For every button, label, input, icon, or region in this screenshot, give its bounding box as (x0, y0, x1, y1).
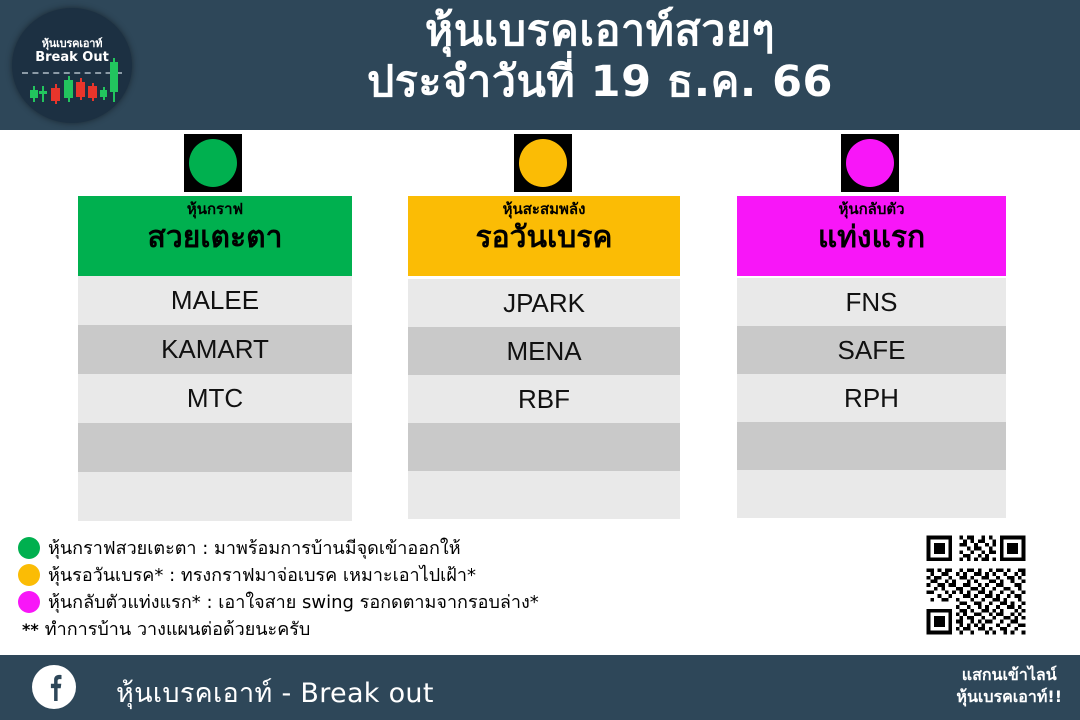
column-header-3: หุ้นกลับตัว แท่งแรก (737, 196, 1006, 276)
footnote-stars: ** (22, 622, 39, 643)
legend-label: หุ้นรอวันเบรค* : ทรงกราฟมาจ่อเบรค เหมาะเ… (48, 560, 476, 589)
stock-column-3: หุ้นกลับตัว แท่งแรก FNS SAFE RPH (737, 196, 1006, 518)
legend-label: หุ้นกลับตัวแท่งแรก* : เอาใจสาย swing รอก… (48, 587, 539, 616)
scan-line-1: แสกนเข้าไลน์ (956, 664, 1062, 686)
column-subtitle: หุ้นสะสมพลัง (408, 200, 680, 219)
column-subtitle: หุ้นกลับตัว (737, 200, 1006, 219)
stock-row[interactable]: MALEE (78, 276, 352, 325)
stock-row[interactable] (78, 423, 352, 472)
infographic-page: หุ้นเบรคเอาท์ Break Out (0, 0, 1080, 720)
stock-row[interactable] (408, 471, 680, 519)
column-header-2: หุ้นสะสมพลัง รอวันเบรค (408, 196, 680, 276)
stock-row[interactable]: RBF (408, 375, 680, 423)
title-line-2: ประจำวันที่ 19 ธ.ค. 66 (150, 57, 1050, 108)
column-title: รอวันเบรค (408, 220, 680, 256)
stock-row[interactable] (408, 423, 680, 471)
stock-column-2: หุ้นสะสมพลัง รอวันเบรค JPARK MENA RBF (408, 196, 680, 519)
stock-row[interactable]: JPARK (408, 279, 680, 327)
legend-item: หุ้นรอวันเบรค* : ทรงกราฟมาจ่อเบรค เหมาะเ… (18, 561, 738, 588)
stock-row[interactable]: FNS (737, 278, 1006, 326)
stock-row[interactable] (737, 470, 1006, 518)
stock-row[interactable]: RPH (737, 374, 1006, 422)
title-line-1: หุ้นเบรคเอาท์สวยๆ (150, 6, 1050, 57)
scan-line-2: หุ้นเบรคเอาท์!! (956, 686, 1062, 708)
status-dot-green (184, 134, 242, 192)
green-circle-icon (18, 537, 40, 559)
status-dot-amber (514, 134, 572, 192)
legend-item: หุ้นกลับตัวแท่งแรก* : เอาใจสาย swing รอก… (18, 588, 738, 615)
column-header-1: หุ้นกราฟ สวยเตะตา (78, 196, 352, 276)
legend-item: หุ้นกราฟสวยเตะตา : มาพร้อมการบ้านมีจุดเข… (18, 534, 738, 561)
legend-footnote: ** ทำการบ้าน วางแผนต่อด้วยนะครับ (18, 615, 738, 643)
amber-circle-icon (519, 139, 567, 187)
stock-row[interactable]: SAFE (737, 326, 1006, 374)
stock-list-1: MALEE KAMART MTC (78, 276, 352, 521)
footer-bar: หุ้นเบรคเอาท์ - Break out แสกนเข้าไลน์ ห… (0, 655, 1080, 720)
stock-column-1: หุ้นกราฟ สวยเตะตา MALEE KAMART MTC (78, 196, 352, 521)
stock-row[interactable] (737, 422, 1006, 470)
facebook-page-name[interactable]: หุ้นเบรคเอาท์ - Break out (116, 671, 434, 714)
candlestick-chart-icon (26, 58, 120, 110)
stock-row[interactable]: MTC (78, 374, 352, 423)
magenta-circle-icon (18, 591, 40, 613)
column-subtitle: หุ้นกราฟ (78, 200, 352, 219)
header-bar: หุ้นเบรคเอาท์ Break Out (0, 0, 1080, 130)
brand-logo: หุ้นเบรคเอาท์ Break Out (12, 8, 132, 123)
stock-row[interactable]: MENA (408, 327, 680, 375)
stock-row[interactable]: KAMART (78, 325, 352, 374)
amber-circle-icon (18, 564, 40, 586)
status-dot-magenta (841, 134, 899, 192)
scan-line-text: แสกนเข้าไลน์ หุ้นเบรคเอาท์!! (956, 664, 1062, 709)
legend-label: หุ้นกราฟสวยเตะตา : มาพร้อมการบ้านมีจุดเข… (48, 533, 461, 562)
green-circle-icon (189, 139, 237, 187)
magenta-circle-icon (846, 139, 894, 187)
facebook-icon[interactable] (32, 665, 76, 709)
stock-list-2: JPARK MENA RBF (408, 279, 680, 519)
column-title: สวยเตะตา (78, 220, 352, 256)
page-title: หุ้นเบรคเอาท์สวยๆ ประจำวันที่ 19 ธ.ค. 66 (150, 6, 1050, 107)
stock-row[interactable] (78, 472, 352, 521)
footnote-label: ทำการบ้าน วางแผนต่อด้วยนะครับ (45, 614, 311, 643)
stock-list-3: FNS SAFE RPH (737, 278, 1006, 518)
legend: หุ้นกราฟสวยเตะตา : มาพร้อมการบ้านมีจุดเข… (18, 534, 738, 643)
qr-code-image (917, 532, 1035, 638)
column-title: แท่งแรก (737, 220, 1006, 256)
qr-code[interactable] (911, 526, 1041, 644)
